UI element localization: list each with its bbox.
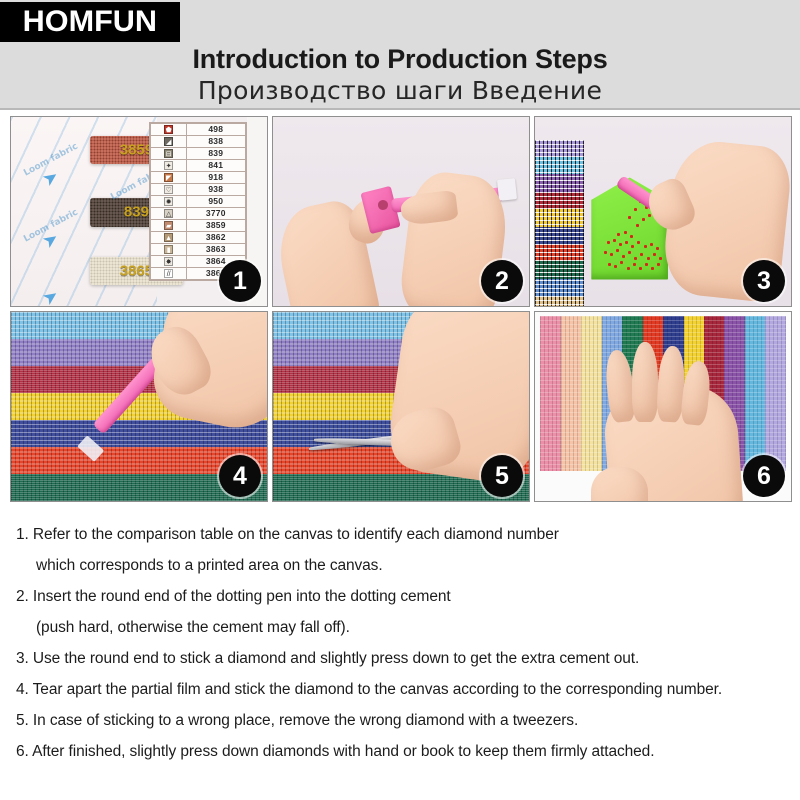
diamond-bead [625,241,628,244]
color-chart-symbol-cell: ✹ [151,196,187,208]
color-chart-symbol-cell: ⬟ [151,124,187,136]
diamond-bead [630,235,633,238]
diamond-bead [656,247,659,250]
diamond-bead [657,263,660,266]
color-chart-symbol-cell: ▲ [151,232,187,244]
instruction-line: 5. In case of sticking to a wrong place,… [16,705,784,736]
step-badge-4: 4 [219,455,261,497]
diamond-bead [634,257,637,260]
color-symbol-icon: ✦ [164,161,173,170]
color-chart-number-cell: 950 [187,196,245,208]
color-chart-number-cell: 838 [187,136,245,148]
pen-tip [497,178,517,201]
diamond-bead [620,261,623,264]
step-badge-1: 1 [219,260,261,302]
color-symbol-icon: ♡ [164,185,173,194]
color-chart-symbol-cell: ♡ [151,184,187,196]
brand-logo-text: HOMFUN [23,7,157,37]
canvas-weave-texture [540,316,560,471]
page-title-english: Introduction to Production Steps [0,44,800,75]
color-chart-row: ♡938 [151,184,245,196]
diamond-bead [653,253,656,256]
instruction-line: 6. After finished, slightly press down d… [16,736,784,767]
canvas-weave-texture [745,316,765,471]
color-symbol-icon: ✹ [164,197,173,206]
diamond-bead [614,265,617,268]
color-symbol-icon: ◤ [164,173,173,182]
instruction-line: (push hard, otherwise the cement may fal… [16,612,784,643]
diamond-bead [637,241,640,244]
step-badge-3: 3 [743,260,785,302]
brand-logo: HOMFUN [0,2,180,42]
color-symbol-icon: ◢ [164,137,173,146]
color-chart-number-cell: 841 [187,160,245,172]
canvas-stripe [535,157,584,174]
diamond-bead [617,233,620,236]
color-chart-symbol-cell: // [151,268,187,280]
instruction-line: which corresponds to a printed area on t… [16,550,784,581]
color-symbol-icon: // [164,269,173,278]
step-badge-6: 6 [743,455,785,497]
diamond-bead [628,216,631,219]
diamond-bead [640,253,643,256]
diamond-bead [627,267,630,270]
diamond-bead [628,251,631,254]
diamond-bead [610,253,613,256]
color-chart-row: ✦841 [151,160,245,172]
color-chart-row: ▰3859 [151,220,245,232]
canvas-stripe [535,244,584,261]
instructions-list: 1. Refer to the comparison table on the … [0,505,800,800]
color-chart-row: ▲3862 [151,232,245,244]
diamond-bead [624,231,627,234]
color-chart-number-cell: 938 [187,184,245,196]
canvas-stripe [535,261,584,278]
step-panel-4: 4 [10,311,268,502]
step-panel-1: 3859 839 3865 ➤ ➤ ➤ Loom fabric Loom fab… [10,116,268,307]
color-symbol-icon: ▮ [164,245,173,254]
color-chart-symbol-cell: ◤ [151,172,187,184]
canvas-stripe [540,316,560,471]
canvas-stripe [535,174,584,191]
canvas-weave-texture [581,316,601,471]
step-badge-5: 5 [481,455,523,497]
diamond-bead [651,267,654,270]
diamond-bead [644,245,647,248]
diamond-bead [631,245,634,248]
color-chart-body: ⬟498◢838⊟839✦841◤918♡938✹950△3770▰3859▲3… [151,124,245,280]
striped-canvas [535,140,584,306]
cement-hole [378,200,388,209]
steps-grid: 3859 839 3865 ➤ ➤ ➤ Loom fabric Loom fab… [10,116,792,502]
step-panel-3: 3 [534,116,792,307]
diamond-bead [650,243,653,246]
color-chart-number-cell: 3859 [187,220,245,232]
color-symbol-icon: ⊟ [164,149,173,158]
diamond-bead [608,263,611,266]
product-instruction-image: HOMFUN Introduction to Production Steps … [0,0,800,800]
color-chart-symbol-cell: ◢ [151,136,187,148]
color-chart-number-cell: 3863 [187,244,245,256]
color-chart-row: ⊟839 [151,148,245,160]
step-panel-5: 5 [272,311,530,502]
color-comparison-table: ⬟498◢838⊟839✦841◤918♡938✹950△3770▰3859▲3… [149,122,246,281]
color-chart-row: ◢838 [151,136,245,148]
color-symbol-icon: ▲ [164,233,173,242]
color-chart-row: ✹950 [151,196,245,208]
diamond-bead [645,263,648,266]
diamond-bead [648,214,651,217]
canvas-stripe [535,192,584,209]
diamond-bead [616,249,619,252]
color-chart-symbol-cell: ▰ [151,220,187,232]
color-chart-symbol-cell: ▮ [151,244,187,256]
color-chart-row: ◤918 [151,172,245,184]
canvas-stripe [745,316,765,471]
canvas-stripe [535,209,584,226]
canvas-stripe [581,316,601,471]
color-chart-number-cell: 3862 [187,232,245,244]
color-chart-symbol-cell: ✦ [151,160,187,172]
diamond-bead [604,251,607,254]
color-chart-number-cell: 918 [187,172,245,184]
diamond-bead [622,255,625,258]
color-chart-row: ▮3863 [151,244,245,256]
canvas-weave-texture [561,316,581,471]
color-chart-row: △3770 [151,208,245,220]
color-chart-symbol-cell: ⊟ [151,148,187,160]
canvas-stripe [535,140,584,157]
color-chart-symbol-cell: △ [151,208,187,220]
diamond-bead [639,267,642,270]
canvas-weave-texture [765,316,785,471]
step-panel-6: 6 [534,311,792,502]
diamond-bead [647,257,650,260]
header-divider [0,108,800,110]
color-symbol-icon: △ [164,209,173,218]
header: HOMFUN Introduction to Production Steps … [0,0,800,110]
canvas-stripe [535,296,584,306]
diamond-bead [636,224,639,227]
color-chart-table: ⬟498◢838⊟839✦841◤918♡938✹950△3770▰3859▲3… [150,123,245,280]
color-symbol-icon: ✸ [164,257,173,266]
diamond-bead [642,218,645,221]
finger [632,342,658,421]
color-symbol-icon: ▰ [164,221,173,230]
diamond-bead [633,263,636,266]
instruction-line: 4. Tear apart the partial film and stick… [16,674,784,705]
instruction-line: 2. Insert the round end of the dotting p… [16,581,784,612]
thumb [591,467,647,501]
instruction-line: 3. Use the round end to stick a diamond … [16,643,784,674]
step-badge-2: 2 [481,260,523,302]
canvas-stripe [535,227,584,244]
instruction-line: 1. Refer to the comparison table on the … [16,519,784,550]
color-symbol-icon: ⬟ [164,125,173,134]
diamond-bead [619,243,622,246]
canvas-stripe [561,316,581,471]
color-chart-number-cell: 839 [187,148,245,160]
canvas-stripe [765,316,785,471]
color-chart-number-cell: 498 [187,124,245,136]
step-panel-2: 2 [272,116,530,307]
canvas-stripe [535,279,584,296]
color-chart-symbol-cell: ✸ [151,256,187,268]
diamond-bead [659,257,662,260]
page-title-russian: Производство шаги Введение [0,76,800,105]
diamond-bead [607,241,610,244]
color-chart-number-cell: 3770 [187,208,245,220]
diamond-bead [613,239,616,242]
diamond-bead [634,208,637,211]
color-chart-row: ⬟498 [151,124,245,136]
